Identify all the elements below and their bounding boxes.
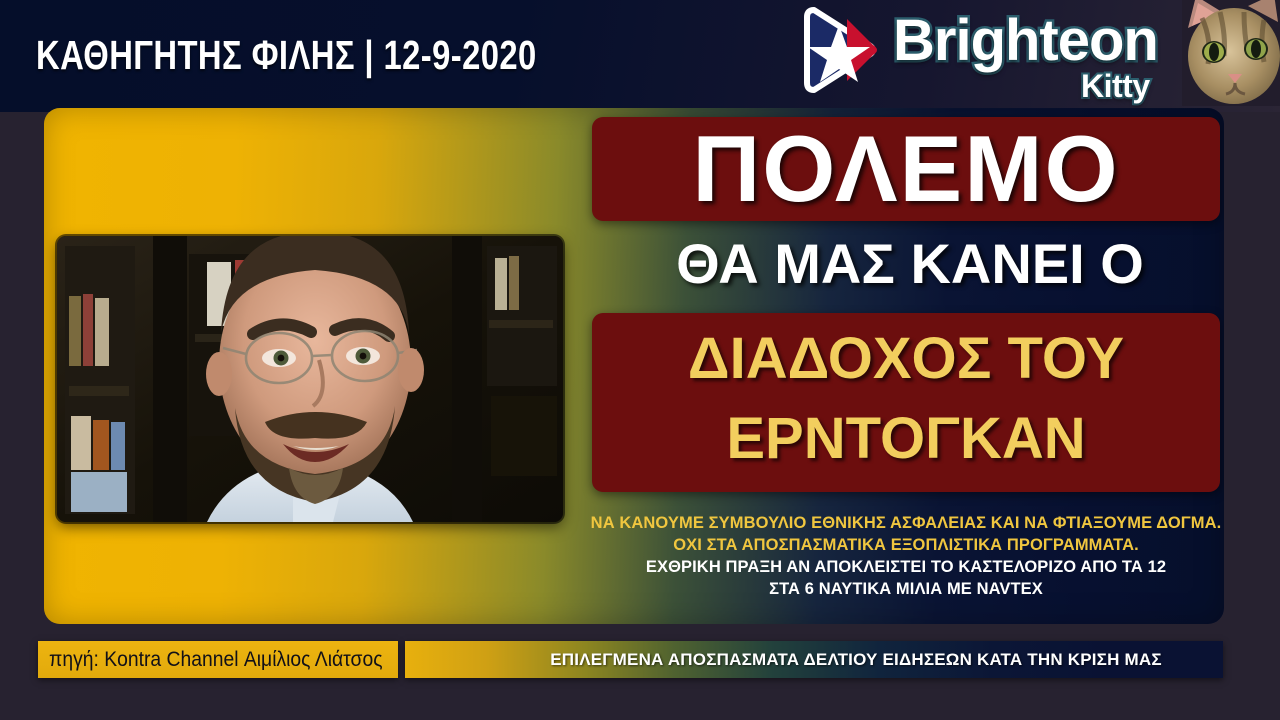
ribbon-label: ΕΠΙΛΕΓΜΕΝΑ ΑΠΟΣΠΑΣΜΑΤΑ ΔΕΛΤΙΟΥ ΕΙΔΗΣΕΩΝ …	[550, 650, 1161, 670]
brighteon-logo[interactable]: Brighteon Kitty	[795, 4, 1195, 108]
main-content-panel: ΠΟΛΕΜΟ ΘΑ ΜΑΣ ΚΑΝΕΙ Ο ΔΙΑΔΟΧΟΣ ΤΟΥ ΕΡΝΤΟ…	[44, 108, 1224, 624]
ticker-line: ΣΤΑ 6 ΝΑΥΤΙΚΑ ΜΙΛΙΑ ΜΕ NAVTEX	[564, 578, 1224, 600]
source-label: πηγή: Kontra Channel Αιμίλιος Λιάτσος	[38, 648, 383, 672]
headline-line-1: ΠΟΛΕΜΟ	[592, 120, 1220, 218]
play-triangle-star-icon	[795, 7, 887, 93]
headline-line-3: ΔΙΑΔΟΧΟΣ ΤΟΥ	[592, 324, 1220, 394]
ticker-line: ΕΧΘΡΙΚΗ ΠΡΑΞΗ ΑΝ ΑΠΟΚΛΕΙΣΤΕΙ ΤΟ ΚΑΣΤΕΛΟΡ…	[564, 556, 1224, 578]
ribbon-bar: ΕΠΙΛΕΓΜΕΝΑ ΑΠΟΣΠΑΣΜΑΤΑ ΔΕΛΤΙΟΥ ΕΙΔΗΣΕΩΝ …	[405, 641, 1223, 678]
video-thumbnail-graphic: ΚΑΘΗΓΗΤΗΣ ΦΙΛΗΣ | 12-9-2020 Brighteon Ki…	[0, 0, 1280, 720]
logo-wordmark: Brighteon	[893, 12, 1158, 70]
ticker-text-block: ΝΑ ΚΑΝΟΥΜΕ ΣΥΜΒΟΥΛΙΟ ΕΘΝΙΚΗΣ ΑΣΦΑΛΕΙΑΣ Κ…	[564, 512, 1224, 600]
ticker-line: ΝΑ ΚΑΝΟΥΜΕ ΣΥΜΒΟΥΛΙΟ ΕΘΝΙΚΗΣ ΑΣΦΑΛΕΙΑΣ Κ…	[564, 512, 1224, 534]
video-thumbnail[interactable]	[57, 236, 563, 522]
cat-photo	[1182, 0, 1280, 106]
header-bar: ΚΑΘΗΓΗΤΗΣ ΦΙΛΗΣ | 12-9-2020 Brighteon Ki…	[0, 0, 1280, 112]
ticker-line: ΟΧΙ ΣΤΑ ΑΠΟΣΠΑΣΜΑΤΙΚΑ ΕΞΟΠΛΙΣΤΙΚΑ ΠΡΟΓΡΑ…	[564, 534, 1224, 556]
logo-subtitle: Kitty	[1081, 70, 1150, 102]
source-bar: πηγή: Kontra Channel Αιμίλιος Λιάτσος	[38, 641, 398, 678]
page-title: ΚΑΘΗΓΗΤΗΣ ΦΙΛΗΣ | 12-9-2020	[36, 32, 537, 79]
headline-line-2: ΘΑ ΜΑΣ ΚΑΝΕΙ Ο	[592, 228, 1224, 300]
headline-line-4: ΕΡΝΤΟΓΚΑΝ	[592, 404, 1220, 474]
